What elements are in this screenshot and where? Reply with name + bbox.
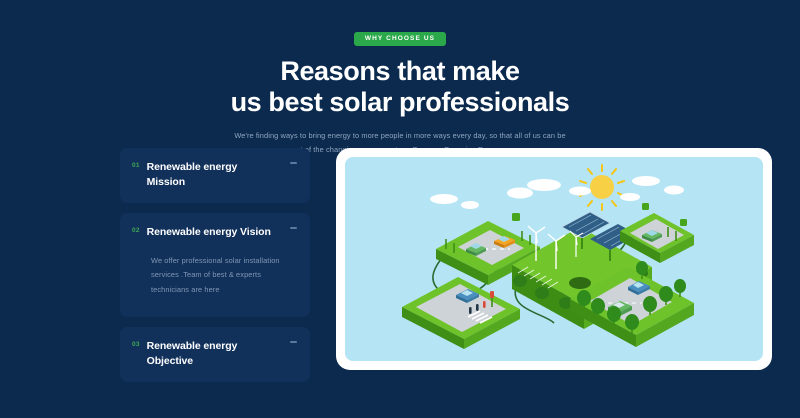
accordion-list: 01 Renewable energy Mission 02 Renewable… [120,148,310,382]
illustration-card [336,148,772,370]
section-body: 01 Renewable energy Mission 02 Renewable… [0,148,800,382]
accordion-header[interactable]: 02 Renewable energy Vision [132,225,296,240]
accordion-item-objective[interactable]: 03 Renewable energy Objective [120,327,310,382]
headline-line-1: Reasons that make [280,56,519,86]
accordion-header[interactable]: 03 Renewable energy Objective [132,339,296,369]
accordion-item-number: 03 [132,339,140,348]
page-title: Reasons that make us best solar professi… [0,56,800,119]
accordion-header[interactable]: 01 Renewable energy Mission [132,160,296,190]
section-header: WHY CHOOSE US Reasons that make us best … [0,0,800,157]
accordion-item-number: 01 [132,160,140,169]
accordion-item-number: 02 [132,225,140,234]
accordion-item-body: We offer professional solar installation… [151,254,296,297]
illustration-canvas [345,157,763,361]
accordion-item-title: Renewable energy Vision [147,225,271,240]
accordion-item-title: Renewable energy Objective [147,339,275,369]
accordion-item-mission[interactable]: 01 Renewable energy Mission [120,148,310,203]
accordion-item-vision[interactable]: 02 Renewable energy Vision We offer prof… [120,213,310,317]
minus-icon[interactable] [290,341,297,343]
isometric-renewable-energy-illustration [345,157,763,361]
section-badge: WHY CHOOSE US [354,32,446,46]
minus-icon[interactable] [290,162,297,164]
headline-line-2: us best solar professionals [0,87,800,118]
why-choose-us-section: WHY CHOOSE US Reasons that make us best … [0,0,800,418]
accordion-item-title: Renewable energy Mission [147,160,275,190]
